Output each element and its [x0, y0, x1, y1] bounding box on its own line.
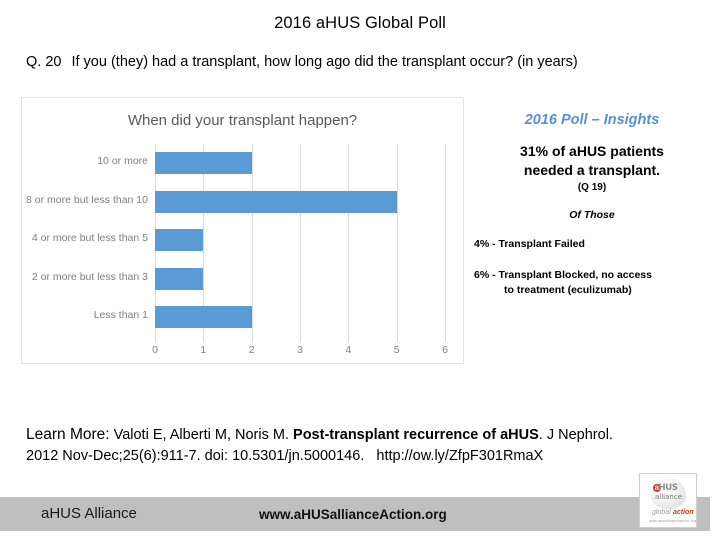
- citation-url[interactable]: http://ow.ly/ZfpF301RmaX: [376, 448, 543, 464]
- x-tick-mark: [203, 337, 204, 342]
- insight-item: 4% - Transplant Failed: [470, 237, 714, 252]
- question-number: Q. 20: [26, 54, 61, 70]
- chart-title: When did your transplant happen?: [22, 112, 463, 129]
- chart-bar[interactable]: [155, 152, 252, 174]
- chart-category-label: 10 or more: [97, 155, 148, 167]
- question-text: If you (they) had a transplant, how long…: [71, 54, 577, 70]
- x-tick-label: 1: [200, 344, 206, 356]
- x-tick-label: 2: [249, 344, 255, 356]
- insight-text-continued: to treatment (eculizumab): [474, 283, 714, 298]
- logo-brand-hus: aHUS: [653, 483, 678, 493]
- chart-bar-row: 10 or more: [155, 144, 445, 183]
- chart-category-label: Less than 1: [94, 309, 148, 321]
- chart-bar-row: 8 or more but less than 10: [155, 183, 445, 222]
- chart-container: When did your transplant happen? 10 or m…: [21, 97, 464, 364]
- x-tick-label: 6: [442, 344, 448, 356]
- chart-bar[interactable]: [155, 268, 203, 290]
- chart-bar-row: Less than 1: [155, 298, 445, 337]
- insights-of-those-label: Of Those: [470, 209, 714, 221]
- x-tick-label: 0: [152, 344, 158, 356]
- learn-more-label: Learn More:: [26, 426, 110, 443]
- ahus-alliance-logo: a aHUS alliance global action www.ahusal…: [639, 473, 697, 528]
- chart-bar[interactable]: [155, 306, 252, 328]
- chart-bar-row: 2 or more but less than 3: [155, 260, 445, 299]
- insights-headline: 31% of aHUS patients needed a transplant…: [470, 142, 714, 180]
- x-tick-mark: [252, 337, 253, 342]
- footer-organization: aHUS Alliance: [41, 505, 137, 522]
- x-tick-label: 4: [345, 344, 351, 356]
- x-tick-label: 5: [394, 344, 400, 356]
- insights-headline-line1: 31% of aHUS patients: [470, 142, 714, 161]
- insights-question-reference: (Q 19): [470, 182, 714, 193]
- footer-website-link[interactable]: www.aHUSallianceAction.org: [259, 507, 447, 522]
- insight-text: Transplant Failed: [499, 238, 585, 250]
- chart-bar-row: 4 or more but less than 5: [155, 221, 445, 260]
- insight-item: 6% - Transplant Blocked, no accessto tre…: [470, 268, 714, 298]
- learn-more-citation: Learn More: Valoti E, Alberti M, Noris M…: [26, 424, 698, 467]
- question-line: Q. 20If you (they) had a transplant, how…: [26, 54, 578, 70]
- chart-plot-area: 10 or more8 or more but less than 104 or…: [155, 144, 445, 337]
- insight-percent: 6% -: [474, 269, 499, 281]
- logo-tagline-action: action: [673, 509, 694, 516]
- logo-brand-hus-text: HUS: [658, 483, 677, 493]
- logo-tagline-global: global: [652, 509, 671, 516]
- insights-heading: 2016 Poll – Insights: [470, 112, 714, 128]
- x-tick-mark: [397, 337, 398, 342]
- chart-bar[interactable]: [155, 191, 397, 213]
- x-tick-mark: [445, 337, 446, 342]
- insight-percent: 4% -: [474, 238, 499, 250]
- insight-text: Transplant Blocked, no access: [499, 269, 652, 281]
- gridline: [445, 144, 446, 337]
- x-tick-label: 3: [297, 344, 303, 356]
- chart-bar[interactable]: [155, 229, 203, 251]
- citation-journal: . J Nephrol.: [539, 427, 613, 443]
- logo-brand-alliance: alliance: [655, 493, 682, 501]
- x-tick-mark: [348, 337, 349, 342]
- citation-authors: Valoti E, Alberti M, Noris M.: [114, 427, 289, 443]
- insights-headline-line2: needed a transplant.: [470, 161, 714, 180]
- citation-details: 2012 Nov-Dec;25(6):911-7. doi: 10.5301/j…: [26, 448, 364, 464]
- insights-item-list: 4% - Transplant Failed6% - Transplant Bl…: [470, 237, 714, 299]
- chart-category-label: 8 or more but less than 10: [26, 194, 148, 206]
- page-title: 2016 aHUS Global Poll: [0, 14, 720, 33]
- x-tick-mark: [155, 337, 156, 342]
- x-tick-mark: [300, 337, 301, 342]
- chart-category-label: 2 or more but less than 3: [32, 271, 148, 283]
- insights-panel: 2016 Poll – Insights 31% of aHUS patient…: [470, 112, 714, 298]
- citation-article-title: Post-transplant recurrence of aHUS: [293, 427, 539, 443]
- logo-web-url: www.ahusallianceaction.org: [649, 519, 696, 523]
- chart-category-label: 4 or more but less than 5: [32, 232, 148, 244]
